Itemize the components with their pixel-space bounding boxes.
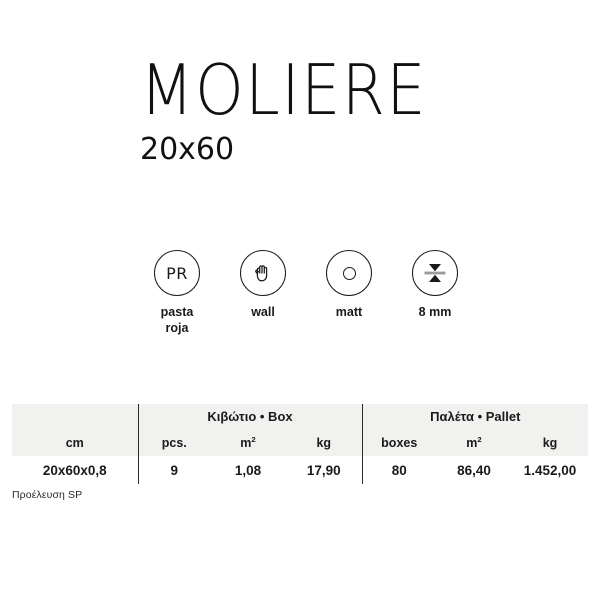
thickness-icon	[412, 250, 458, 296]
column-header-box-m2-sup: 2	[251, 434, 255, 443]
table-group-header-row: Κιβώτιο • Box Παλέτα • Pallet	[12, 404, 588, 429]
pr-badge-icon: PR	[154, 250, 200, 296]
thickness-arrows-icon	[420, 260, 450, 286]
feature-label-wall: wall	[251, 304, 275, 320]
cell-box-m2: 1,08	[210, 456, 286, 484]
table-row: 20x60x0,8 9 1,08 17,90 80 86,40 1.452,00	[12, 456, 588, 484]
table-body: 20x60x0,8 9 1,08 17,90 80 86,40 1.452,00	[12, 456, 588, 484]
feature-label-pasta-roja: pasta roja	[161, 304, 194, 336]
feature-label-matt: matt	[336, 304, 362, 320]
feature-icon-row: PR pasta roja wall matt	[152, 250, 482, 336]
feature-matt: matt	[324, 250, 374, 320]
column-header-box-pcs: pcs.	[138, 429, 210, 456]
product-size-label: 20x60	[140, 135, 600, 165]
column-header-box-m2-text: m	[240, 436, 251, 450]
matt-ring-icon	[326, 250, 372, 296]
feature-pasta-roja: PR pasta roja	[152, 250, 202, 336]
origin-note: Προέλευση SP	[12, 489, 82, 501]
pr-badge-text: PR	[166, 264, 188, 283]
feature-wall: wall	[238, 250, 288, 320]
hand-glyph-icon	[251, 261, 275, 285]
cell-pallet-m2: 86,40	[436, 456, 512, 484]
page-title: MOLIERE	[140, 56, 600, 125]
cell-pallet-boxes: 80	[362, 456, 436, 484]
column-header-pallet-kg: kg	[512, 429, 588, 456]
hand-icon	[240, 250, 286, 296]
cell-dimension: 20x60x0,8	[12, 456, 138, 484]
column-header-pallet-m2-text: m	[466, 436, 477, 450]
table-column-header-row: cm pcs. m2 kg boxes m2 kg	[12, 429, 588, 456]
specification-table: Κιβώτιο • Box Παλέτα • Pallet cm pcs. m2…	[12, 404, 588, 484]
column-header-pallet-m2-sup: 2	[477, 434, 481, 443]
group-header-dimension	[12, 404, 138, 429]
column-header-cm: cm	[12, 429, 138, 456]
feature-thickness: 8 mm	[410, 250, 460, 320]
column-header-box-kg: kg	[286, 429, 362, 456]
table-header: Κιβώτιο • Box Παλέτα • Pallet cm pcs. m2…	[12, 404, 588, 456]
inner-ring-icon	[343, 267, 356, 280]
column-header-pallet-m2: m2	[436, 429, 512, 456]
group-header-pallet: Παλέτα • Pallet	[362, 404, 588, 429]
cell-pallet-kg: 1.452,00	[512, 456, 588, 484]
cell-box-kg: 17,90	[286, 456, 362, 484]
column-header-box-m2: m2	[210, 429, 286, 456]
product-header: MOLIERE 20x60	[0, 56, 600, 165]
cell-box-pcs: 9	[138, 456, 210, 484]
group-header-box: Κιβώτιο • Box	[138, 404, 362, 429]
column-header-pallet-boxes: boxes	[362, 429, 436, 456]
feature-label-thickness: 8 mm	[419, 304, 452, 320]
